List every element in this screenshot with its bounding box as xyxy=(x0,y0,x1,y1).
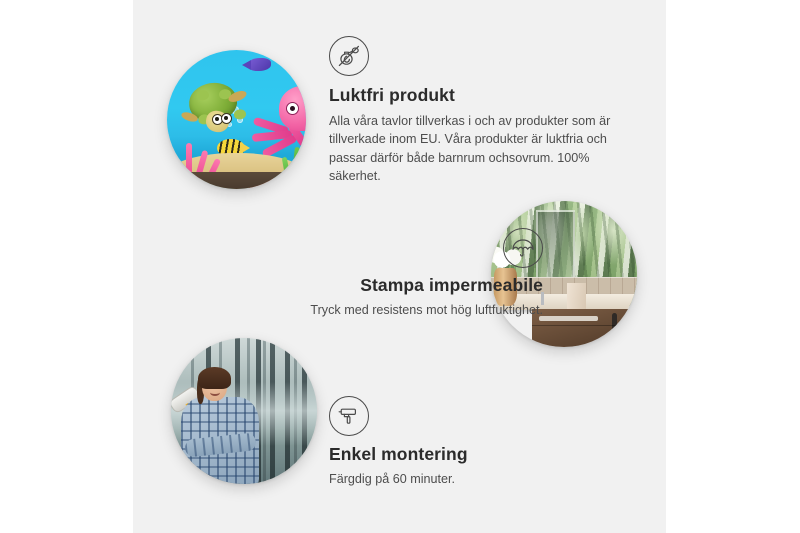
feature-odourless: Luktfri produkt Alla våra tavlor tillver… xyxy=(329,36,625,185)
soap-dispenser xyxy=(567,283,586,312)
product-feature-page: Luktfri produkt Alla våra tavlor tillver… xyxy=(0,0,800,533)
hair xyxy=(198,367,230,390)
sea-floor-shadow xyxy=(167,172,306,189)
content-canvas: Luktfri produkt Alla våra tavlor tillver… xyxy=(133,0,666,533)
feature-assembly: Enkel montering Färgdig på 60 minuter. xyxy=(329,396,619,488)
feature-description: Tryck med resistens mot hög luftfuktighe… xyxy=(211,301,543,319)
wooden-vanity xyxy=(532,309,637,347)
smile xyxy=(210,389,219,396)
fish-purple-icon xyxy=(248,58,272,71)
feature-description: Färgdig på 60 minuter. xyxy=(329,470,619,488)
paint-roller-icon xyxy=(329,396,369,436)
feature-title: Luktfri produkt xyxy=(329,85,625,107)
drawer-line xyxy=(532,325,637,326)
product-photo-woman[interactable] xyxy=(171,338,317,484)
feature-waterproof: Stampa impermeabile Tryck med resistens … xyxy=(211,228,543,319)
product-photo-sea[interactable] xyxy=(167,50,306,189)
umbrella-icon xyxy=(503,228,543,268)
feature-title: Enkel montering xyxy=(329,444,619,466)
feature-title: Stampa impermeabile xyxy=(211,275,543,297)
woman-figure xyxy=(180,370,265,484)
feature-description: Alla våra tavlor tillverkas i och av pro… xyxy=(329,112,625,186)
turtle-icon xyxy=(184,83,251,136)
no-fragrance-icon xyxy=(329,36,369,76)
